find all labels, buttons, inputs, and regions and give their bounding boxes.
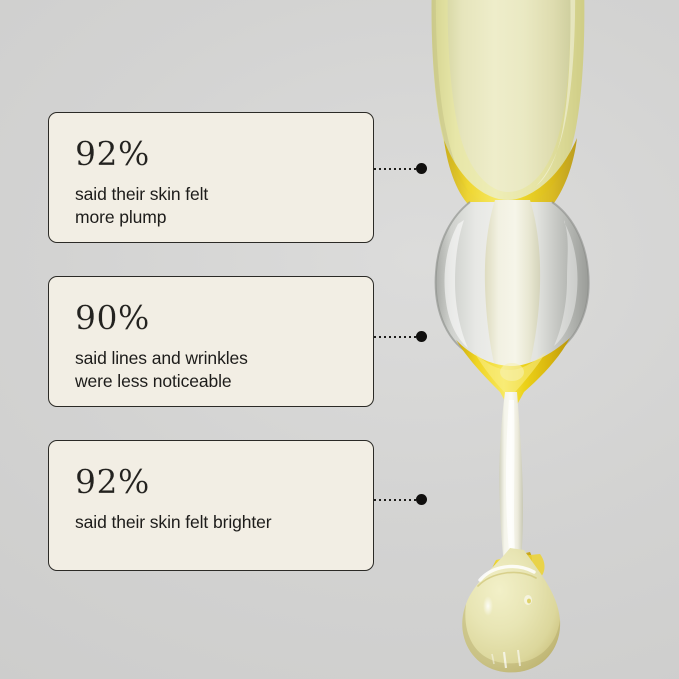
- dotted-line-icon: [374, 336, 421, 338]
- oil-droplet: [462, 548, 560, 672]
- connector-dot-icon: [416, 163, 427, 174]
- stat-card: 90% said lines and wrinkles were less no…: [48, 276, 374, 407]
- stat-card: 92% said their skin felt more plump: [48, 112, 374, 243]
- stat-card: 92% said their skin felt brighter: [48, 440, 374, 571]
- dotted-line-icon: [374, 499, 421, 501]
- connector-dot-icon: [416, 494, 427, 505]
- callout-connector: [374, 331, 430, 343]
- cream-stream: [499, 392, 523, 572]
- product-infographic: 92% said their skin felt more plump 90% …: [0, 0, 679, 679]
- callout-connector: [374, 494, 430, 506]
- stat-description: said their skin felt more plump: [75, 183, 347, 229]
- product-photo-serum-drip: [400, 0, 679, 679]
- connector-dot-icon: [416, 331, 427, 342]
- stat-description: said lines and wrinkles were less notice…: [75, 347, 347, 393]
- glass-dropper-body: [436, 200, 589, 386]
- stat-description: said their skin felt brighter: [75, 511, 347, 534]
- callout-connector: [374, 163, 430, 175]
- stat-percent: 90%: [75, 301, 347, 334]
- stat-percent: 92%: [75, 465, 347, 498]
- dotted-line-icon: [374, 168, 421, 170]
- stat-percent: 92%: [75, 137, 347, 170]
